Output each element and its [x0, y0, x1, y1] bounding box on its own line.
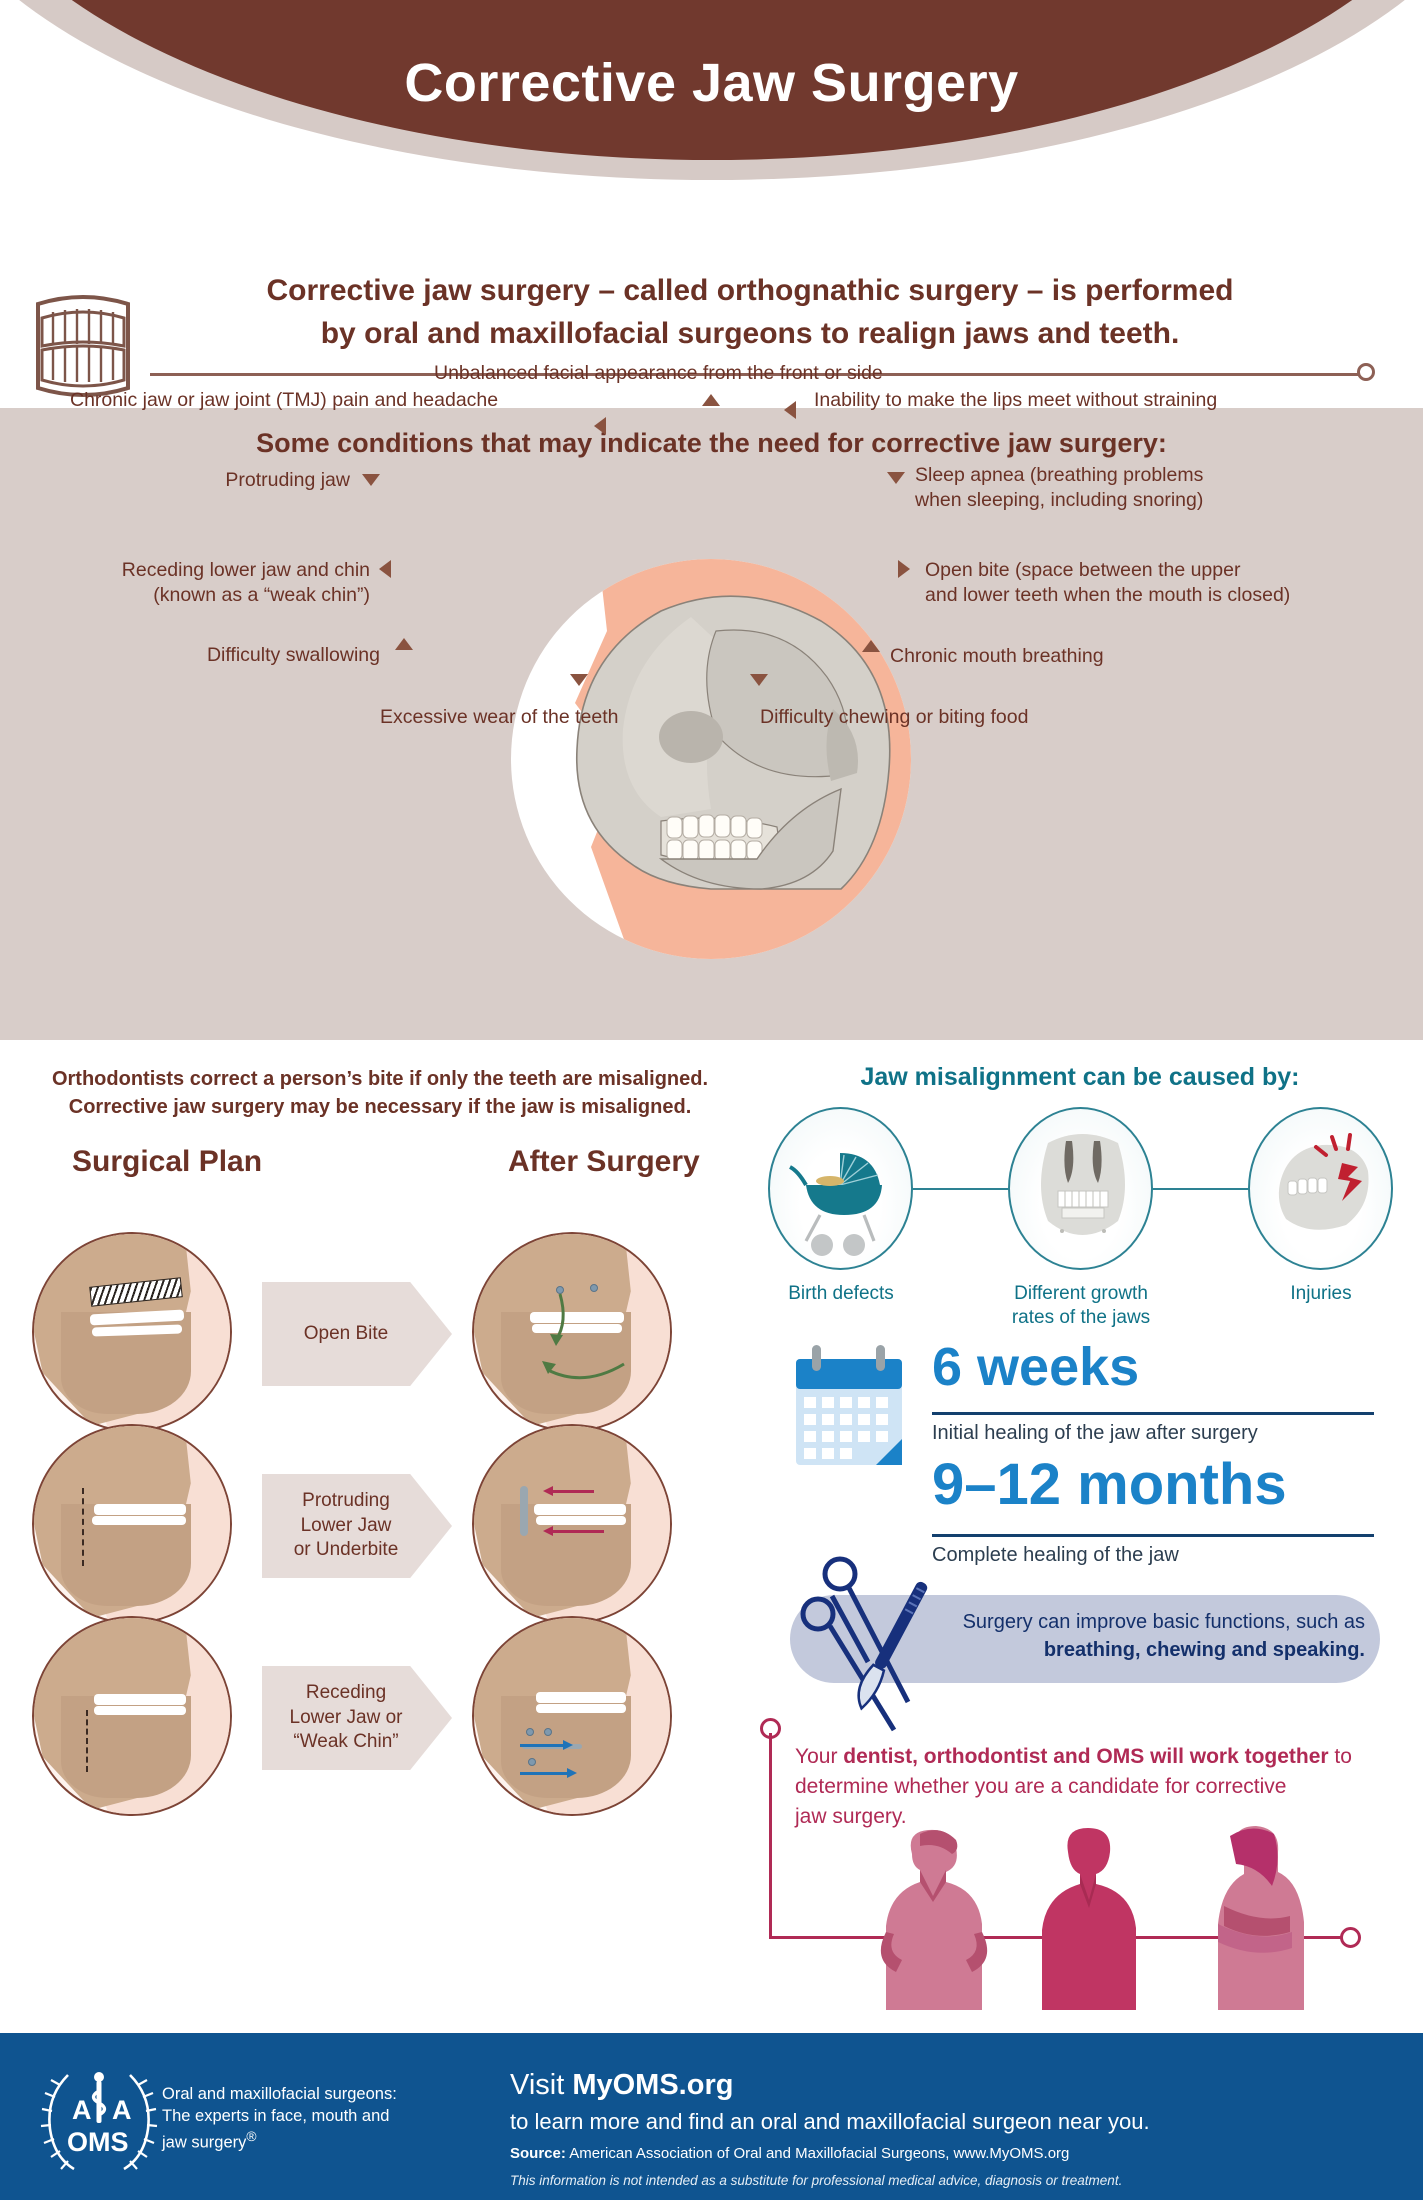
- condition-label-unbalanced-facial: Unbalanced facial appearance from the fr…: [434, 361, 1034, 386]
- pointer-right-icon: [898, 560, 910, 578]
- red-movement-arrow-icon: [552, 1490, 594, 1493]
- pointer-left-icon: [594, 417, 606, 435]
- source-line: Source: American Association of Oral and…: [510, 2145, 1069, 2162]
- osteotomy-dashed-line: [82, 1488, 84, 1566]
- team-stem-vertical: [769, 1733, 772, 1939]
- lower-teeth-3: [92, 1516, 186, 1525]
- column-header-surgical-plan: Surgical Plan: [72, 1145, 262, 1179]
- team-bold: dentist, orthodontist and OMS will work …: [843, 1745, 1328, 1768]
- visit-line: Visit MyOMS.org: [510, 2069, 733, 2102]
- upper-teeth-6: [536, 1692, 626, 1703]
- condition-label-open-bite: Open bite (space between the upper and l…: [925, 558, 1375, 608]
- team-lead: Your: [795, 1745, 843, 1768]
- receding-chin-line1: Receding lower jaw and chin: [122, 559, 370, 581]
- tagline-line-3-wrap: jaw surgery®: [162, 2128, 452, 2154]
- conditions-section: Some conditions that may indicate the ne…: [0, 408, 1423, 1040]
- lower-teeth-4: [536, 1516, 626, 1525]
- weak-chin-label-line2: Lower Jaw or: [290, 1707, 403, 1728]
- tagline-line-3: jaw surgery: [162, 2133, 246, 2151]
- baby-stroller-icon: [770, 1109, 913, 1270]
- functions-line-1: Surgery can improve basic functions, suc…: [963, 1611, 1365, 1633]
- upper-teeth-4: [534, 1504, 626, 1515]
- cause-caption-birth-defects: Birth defects: [741, 1282, 941, 1306]
- functions-text: Surgery can improve basic functions, suc…: [925, 1608, 1365, 1665]
- functions-line-2: breathing, chewing and speaking.: [1044, 1639, 1365, 1661]
- sleep-apnea-line1: Sleep apnea (breathing problems: [915, 464, 1203, 486]
- sleep-apnea-line2: when sleeping, including snoring): [915, 489, 1203, 511]
- page-title: Corrective Jaw Surgery: [0, 52, 1423, 114]
- stat-caption-complete-healing: Complete healing of the jaw: [932, 1544, 1179, 1567]
- receding-chin-line2: (known as a “weak chin”): [153, 584, 370, 606]
- row-label-underbite: Protruding Lower Jaw or Underbite: [262, 1474, 452, 1578]
- jaw-after-underbite: [472, 1424, 672, 1624]
- jaw-before-underbite: [32, 1424, 232, 1624]
- ortho-note-line-2: Corrective jaw surgery may be necessary …: [20, 1093, 740, 1121]
- growth-rates-line2: rates of the jaws: [1012, 1307, 1150, 1328]
- svg-text:OMS: OMS: [67, 2127, 129, 2157]
- conditions-title: Some conditions that may indicate the ne…: [0, 428, 1423, 459]
- fixation-plate-icon: [520, 1486, 528, 1536]
- jaw-after-open-bite: [472, 1232, 672, 1432]
- stat-9-12-months: 9–12 months: [932, 1456, 1287, 1514]
- condition-label-sleep-apnea: Sleep apnea (breathing problems when sle…: [915, 463, 1335, 513]
- tagline-line-2: The experts in face, mouth and: [162, 2105, 452, 2127]
- disclaimer: This information is not intended as a su…: [510, 2173, 1122, 2188]
- underbite-label-line3: or Underbite: [294, 1539, 399, 1560]
- cause-icon-injuries: [1248, 1107, 1393, 1270]
- condition-label-lips-meet: Inability to make the lips meet without …: [814, 388, 1374, 413]
- pointer-up-icon: [702, 394, 720, 406]
- jaw-before-open-bite: [32, 1232, 232, 1432]
- row-label-open-bite: Open Bite: [262, 1282, 452, 1386]
- condition-label-mouth-breathing: Chronic mouth breathing: [890, 644, 1210, 669]
- weak-chin-label-line3: “Weak Chin”: [293, 1731, 398, 1752]
- calendar-icon: [790, 1343, 908, 1471]
- condition-label-protruding-jaw: Protruding jaw: [100, 468, 350, 493]
- red-movement-arrow-icon-2: [552, 1530, 604, 1533]
- cause-caption-growth-rates: Different growth rates of the jaws: [981, 1282, 1181, 1331]
- visit-site-link[interactable]: MyOMS.org: [572, 2069, 733, 2101]
- underbite-label-line1: Protruding: [302, 1490, 390, 1511]
- intro-text: Corrective jaw surgery – called orthogna…: [155, 270, 1345, 355]
- ortho-note: Orthodontists correct a person’s bite if…: [20, 1065, 740, 1122]
- underbite-label-line2: Lower Jaw: [301, 1515, 392, 1536]
- surgical-screw-icon-3: [526, 1728, 534, 1736]
- intro-line-1: Corrective jaw surgery – called orthogna…: [155, 270, 1345, 313]
- upper-teeth-5: [94, 1694, 186, 1705]
- pointer-down-icon-4: [750, 674, 768, 686]
- condition-label-receding-chin: Receding lower jaw and chin (known as a …: [70, 558, 370, 608]
- injuries-label: Injuries: [1290, 1283, 1351, 1304]
- weak-chin-label-line1: Receding: [306, 1682, 386, 1703]
- condition-label-difficulty-swallowing: Difficulty swallowing: [140, 643, 380, 668]
- jaw-before-weak-chin: [32, 1616, 232, 1816]
- osteotomy-dashed-line-2: [86, 1710, 88, 1772]
- source-label: Source:: [510, 2145, 566, 2162]
- pointer-down-icon-3: [570, 674, 588, 686]
- cause-caption-injuries: Injuries: [1221, 1282, 1421, 1306]
- open-bite-line1: Open bite (space between the upper: [925, 559, 1240, 581]
- pointer-left-icon-2: [784, 401, 796, 419]
- source-text: American Association of Oral and Maxillo…: [566, 2145, 1070, 2162]
- condition-label-difficulty-chewing: Difficulty chewing or biting food: [760, 705, 1120, 730]
- growth-rates-line1: Different growth: [1014, 1283, 1148, 1304]
- condition-label-tmj-pain: Chronic jaw or jaw joint (TMJ) pain and …: [70, 388, 590, 413]
- footer: A A OMS Oral and maxillofacial surgeons:…: [0, 2033, 1423, 2200]
- cause-icon-birth-defects: [768, 1107, 913, 1270]
- jaw-front-icon: [1010, 1109, 1153, 1270]
- tagline-line-1: Oral and maxillofacial surgeons:: [162, 2083, 452, 2105]
- pointer-left-icon-3: [379, 560, 391, 578]
- visit-prefix: Visit: [510, 2069, 572, 2101]
- pointer-down-icon-2: [887, 472, 905, 484]
- column-header-after-surgery: After Surgery: [508, 1145, 700, 1179]
- row-label-weak-chin: Receding Lower Jaw or “Weak Chin”: [262, 1666, 452, 1770]
- pointer-up-icon-3: [862, 640, 880, 652]
- surgical-screw-icon-4: [544, 1728, 552, 1736]
- skull-illustration: [511, 559, 911, 959]
- pointer-down-icon: [362, 474, 380, 486]
- aaoms-tagline: Oral and maxillofacial surgeons: The exp…: [162, 2083, 452, 2153]
- svg-text:A: A: [72, 2095, 92, 2125]
- jaw-after-weak-chin: [472, 1616, 672, 1816]
- stat-rule-2: [932, 1534, 1374, 1537]
- visit-subtext: to learn more and find an oral and maxil…: [510, 2109, 1150, 2135]
- surgical-screw-icon-5: [528, 1758, 536, 1766]
- birth-defects-label: Birth defects: [788, 1283, 894, 1304]
- svg-text:A: A: [112, 2095, 132, 2125]
- blue-movement-arrow-icon: [520, 1744, 564, 1747]
- intro-line-2: by oral and maxillofacial surgeons to re…: [155, 313, 1345, 356]
- registered-mark: ®: [246, 2129, 256, 2144]
- open-bite-line2: and lower teeth when the mouth is closed…: [925, 584, 1290, 606]
- condition-label-excessive-wear: Excessive wear of the teeth: [380, 705, 680, 730]
- intro-end-dot: [1357, 363, 1375, 381]
- blue-movement-arrow-icon-2: [520, 1772, 568, 1775]
- stat-caption-initial-healing: Initial healing of the jaw after surgery: [932, 1422, 1258, 1445]
- infographic-page: Corrective Jaw Surgery Corrective jaw su…: [0, 0, 1423, 2200]
- people-silhouettes-icon: [820, 1820, 1360, 2010]
- stat-6-weeks: 6 weeks: [932, 1340, 1139, 1394]
- upper-teeth-3: [94, 1504, 186, 1515]
- causes-title: Jaw misalignment can be caused by:: [760, 1063, 1400, 1092]
- aaoms-logo: A A OMS: [38, 2057, 160, 2179]
- injured-jaw-icon: [1250, 1109, 1393, 1270]
- lower-teeth-5: [94, 1706, 186, 1715]
- stat-rule-1: [932, 1412, 1374, 1415]
- green-movement-arrow-icon: [532, 1288, 642, 1398]
- pointer-up-icon-2: [395, 638, 413, 650]
- cause-icon-growth-rates: [1008, 1107, 1153, 1270]
- ortho-note-line-1: Orthodontists correct a person’s bite if…: [20, 1065, 740, 1093]
- lower-teeth-6: [536, 1704, 626, 1713]
